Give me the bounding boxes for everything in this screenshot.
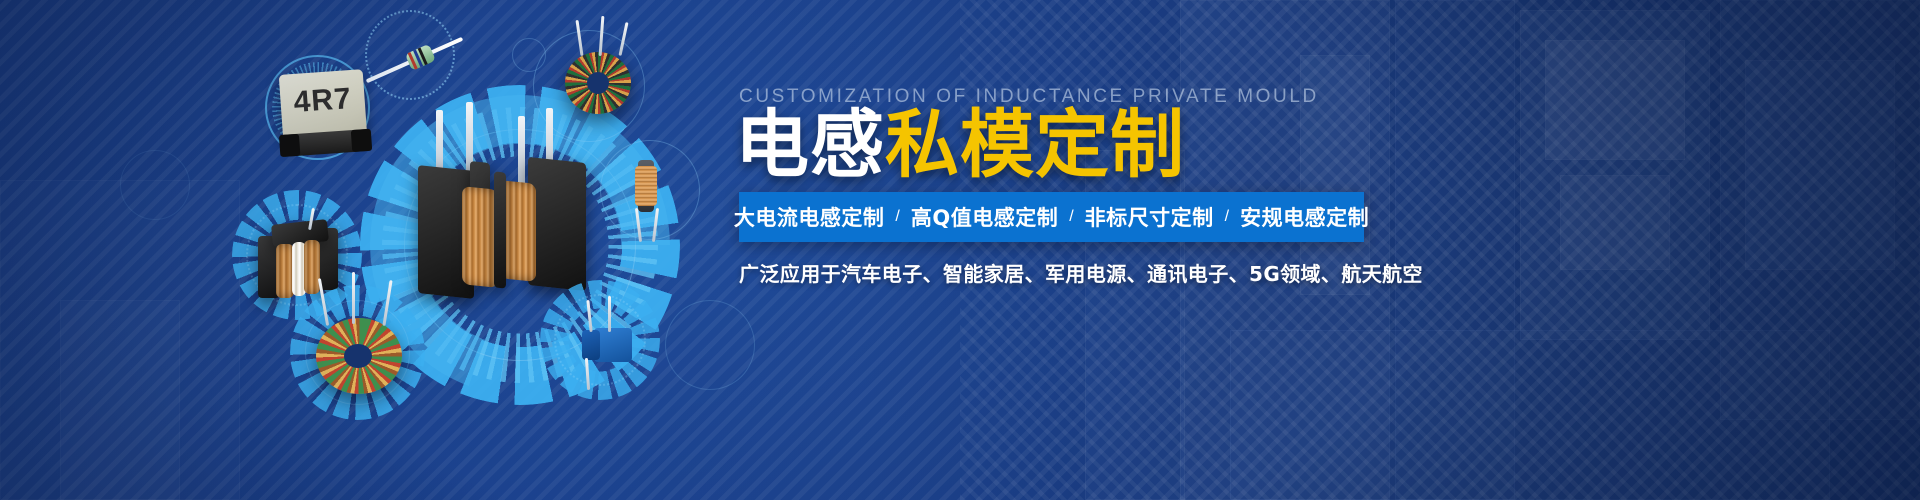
feature-separator-1: / xyxy=(1058,208,1084,226)
headline-white-part: 电感 xyxy=(735,102,885,188)
banner-content: CUSTOMIZATION OF INDUCTANCE PRIVATE MOUL… xyxy=(735,0,1865,500)
feature-item-3: 安规电感定制 xyxy=(1240,202,1369,232)
feature-item-1: 高Q值电感定制 xyxy=(911,202,1058,232)
feature-bar: 大电流电感定制 / 高Q值电感定制 / 非标尺寸定制 / 安规电感定制 xyxy=(739,192,1364,242)
feature-item-2: 非标尺寸定制 xyxy=(1085,202,1214,232)
feature-item-0: 大电流电感定制 xyxy=(734,202,885,232)
banner-description: 广泛应用于汽车电子、智能家居、军用电源、通讯电子、5G领域、航天航空 xyxy=(739,258,1423,287)
banner-headline: 电感私模定制 xyxy=(735,108,1185,182)
promo-banner: 4R7 xyxy=(0,0,1920,500)
feature-separator-2: / xyxy=(1214,208,1240,226)
headline-yellow-part: 私模定制 xyxy=(885,102,1185,188)
feature-separator-0: / xyxy=(884,208,910,226)
